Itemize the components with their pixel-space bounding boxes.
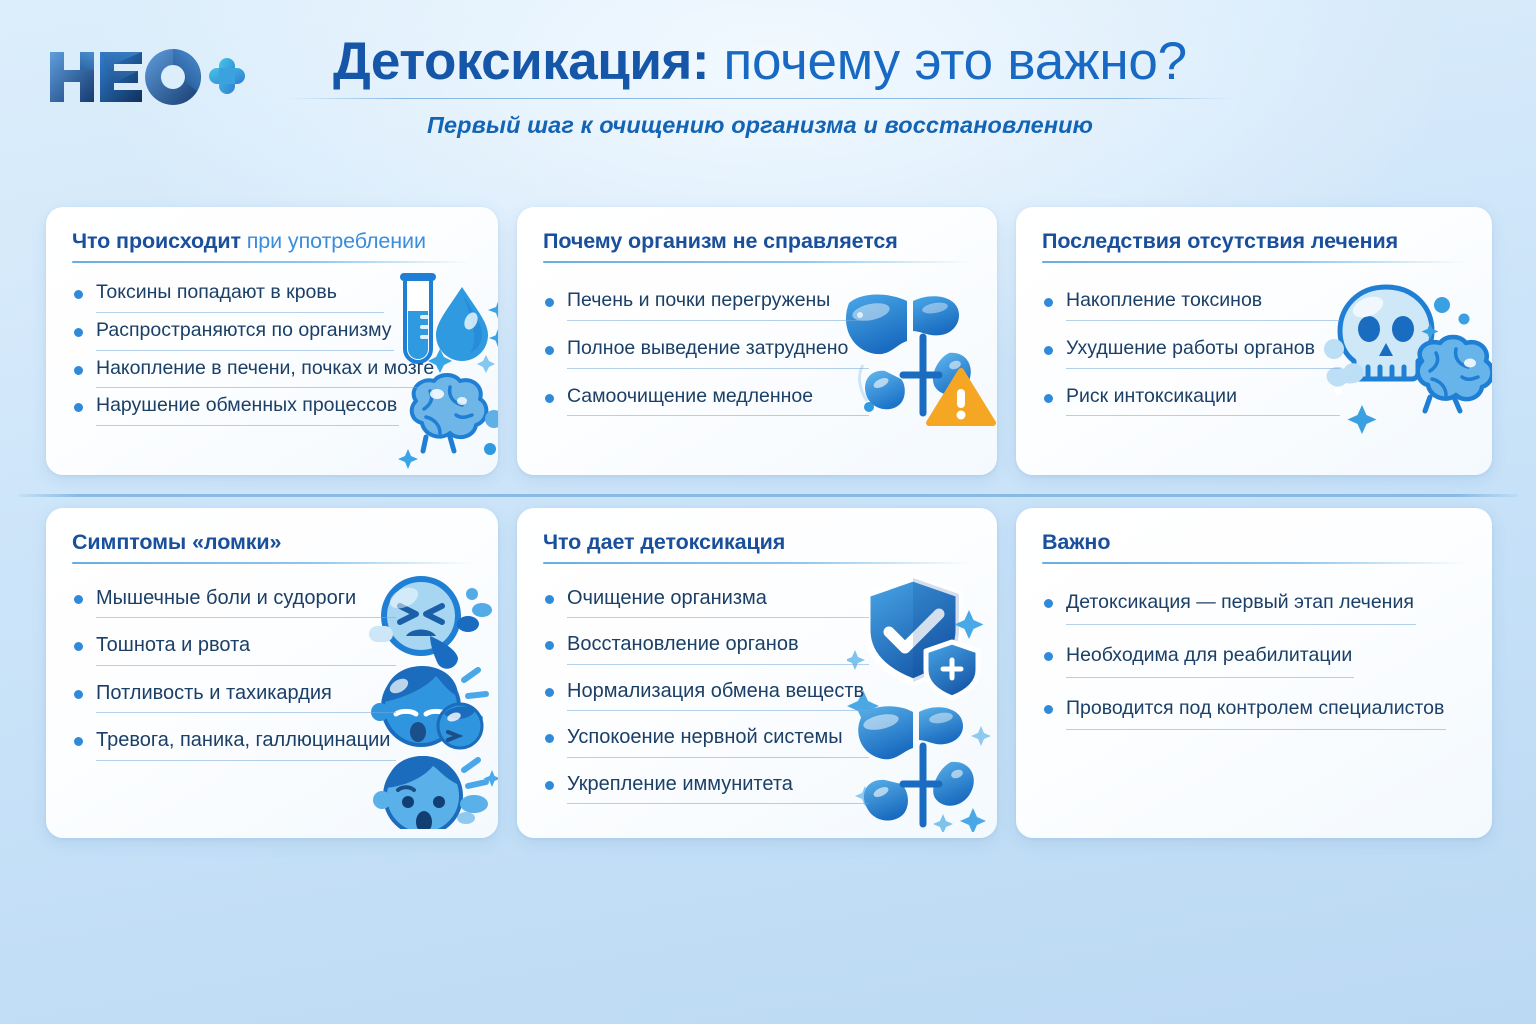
list-item-label: Накопление в печени, почках и мозге [96,351,436,389]
list-item: Ухудшение работы органов [1042,331,1472,369]
card-heading: Почему организм не справляется [543,229,971,254]
screaming-face-icon [373,756,498,829]
bullet-dot [545,734,554,743]
bullet-dot [545,641,554,650]
card-heading-strong: Почему организм не справляется [543,229,898,253]
list-item: Накопление в печени, почках и мозге [72,351,478,389]
card-important[interactable]: Важно Детоксикация — первый этап лечения… [1016,508,1492,838]
list-item-label: Полное выведение затруднено [567,331,869,369]
card-heading-rule [72,261,472,263]
list-item-label: Мышечные боли и судороги [96,580,396,618]
list-item: Нормализация обмена веществ [543,673,977,711]
card-detox-benefits[interactable]: Что дает детоксикация [517,508,997,838]
list-item-label: Необходима для реабилитации [1066,637,1354,678]
list-item: Самоочищение медленное [543,379,977,417]
list-item: Успокоение нервной системы [543,719,977,757]
list-item: Проводится под контролем специалистов [1042,690,1474,731]
bullet-dot [74,328,83,337]
list-item-label: Проводится под контролем специалистов [1066,690,1446,731]
card-heading-strong: Симптомы «ломки» [72,530,281,554]
list-item-label: Распространяются по организму [96,313,394,351]
card-heading-rule [543,562,971,564]
card-heading-rule [1042,261,1466,263]
card-heading-strong: Важно [1042,530,1110,554]
list-item-label: Ухудшение работы органов [1066,331,1340,369]
list-item-label: Детоксикация — первый этап лечения [1066,584,1416,625]
card-6-list: Детоксикация — первый этап лечения Необх… [1042,584,1474,730]
card-heading: Важно [1042,530,1466,555]
card-consequences[interactable]: Последствия отсутствия лечения [1016,207,1492,475]
list-item-label: Тревога, паника, галлюцинации [96,722,396,760]
list-item: Печень и почки перегружены [543,283,977,321]
list-item-label: Самоочищение медленное [567,379,869,417]
list-item-label: Печень и почки перегружены [567,283,869,321]
bullet-dot [74,737,83,746]
bullet-dot [74,290,83,299]
card-heading-strong: Что дает детоксикация [543,530,785,554]
list-item: Очищение организма [543,580,977,618]
bullet-dot [1044,394,1053,403]
list-item-label: Нормализация обмена веществ [567,673,869,711]
bullet-dot [74,403,83,412]
list-item: Восстановление органов [543,626,977,664]
bullet-dot [545,688,554,697]
bullet-dot [545,781,554,790]
bullet-dot [1044,599,1053,608]
list-item-label: Укрепление иммунитета [567,766,869,804]
bullet-dot [545,298,554,307]
list-item-label: Риск интоксикации [1066,379,1340,417]
bullet-dot [74,595,83,604]
list-item-label: Тошнота и рвота [96,627,396,665]
list-item-label: Токсины попадают в кровь [96,275,384,313]
list-item: Укрепление иммунитета [543,766,977,804]
card-heading: Что дает детоксикация [543,530,971,555]
card-heading-strong: Что происходит [72,229,241,253]
bullet-dot [545,346,554,355]
card-1-list: Токсины попадают в кровь Распространяютс… [72,275,478,426]
list-item: Тошнота и рвота [72,627,478,665]
bullet-dot [1044,298,1053,307]
list-item: Необходима для реабилитации [1042,637,1474,678]
list-item: Риск интоксикации [1042,379,1472,417]
bullet-dot [74,642,83,651]
list-item: Полное выведение затруднено [543,331,977,369]
card-heading-soft: при употреблении [241,229,426,253]
list-item: Токсины попадают в кровь [72,275,478,313]
list-item: Накопление токсинов [1042,283,1472,321]
bullet-dot [545,595,554,604]
card-why-body-fails[interactable]: Почему организм не справляется [517,207,997,475]
row-divider [18,494,1518,497]
card-3-list: Накопление токсинов Ухудшение работы орг… [1042,283,1472,416]
list-item: Детоксикация — первый этап лечения [1042,584,1474,625]
bullet-dot [1044,705,1053,714]
bullet-dot [1044,652,1053,661]
bullet-dot [74,690,83,699]
card-heading-rule [72,562,472,564]
list-item: Распространяются по организму [72,313,478,351]
card-5-list: Очищение организма Восстановление органо… [543,580,977,804]
card-what-happens[interactable]: Что происходит при употреблении [46,207,498,475]
list-item-label: Нарушение обменных процессов [96,388,399,426]
card-heading: Что происходит при употреблении [72,229,472,254]
list-item-label: Потливость и тахикардия [96,675,396,713]
card-withdrawal-symptoms[interactable]: Симптомы «ломки» [46,508,498,838]
card-heading: Симптомы «ломки» [72,530,472,555]
card-heading-strong: Последствия отсутствия лечения [1042,229,1398,253]
list-item: Потливость и тахикардия [72,675,478,713]
list-item: Тревога, паника, галлюцинации [72,722,478,760]
list-item: Мышечные боли и судороги [72,580,478,618]
bullet-dot [74,366,83,375]
bullet-dot [1044,346,1053,355]
card-heading-rule [1042,562,1466,564]
list-item-label: Восстановление органов [567,626,869,664]
card-heading-rule [543,261,971,263]
list-item-label: Успокоение нервной системы [567,719,869,757]
list-item-label: Накопление токсинов [1066,283,1340,321]
card-4-list: Мышечные боли и судороги Тошнота и рвота… [72,580,478,761]
list-item-label: Очищение организма [567,580,869,618]
card-grid: Что происходит при употреблении [0,0,1536,1024]
list-item: Нарушение обменных процессов [72,388,478,426]
bullet-dot [545,394,554,403]
card-2-list: Печень и почки перегружены Полное выведе… [543,283,977,416]
card-heading: Последствия отсутствия лечения [1042,229,1466,254]
